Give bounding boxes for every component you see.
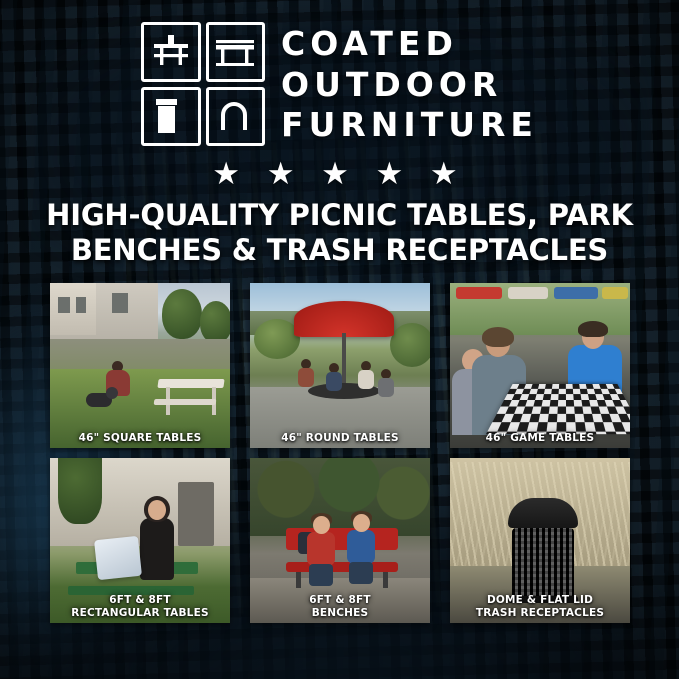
gallery-caption-line-1: DOME & FLAT LID: [452, 594, 628, 606]
photo-round-tables: [250, 283, 430, 448]
gallery-item-game-tables[interactable]: 46" GAME TABLES: [450, 283, 630, 448]
gallery-item-trash-receptacles[interactable]: DOME & FLAT LID TRASH RECEPTACLES: [450, 458, 630, 623]
gallery-caption-line-2: TRASH RECEPTACLES: [452, 607, 628, 619]
gallery-caption-line-2: BENCHES: [252, 607, 428, 619]
gallery-caption-line-1: 6FT & 8FT: [252, 594, 428, 606]
gallery-caption: 6FT & 8FT BENCHES: [250, 591, 430, 623]
headline-line-2: BENCHES & TRASH RECEPTACLES: [0, 233, 679, 268]
arched-bench-icon: [206, 87, 266, 147]
gallery-item-round-tables[interactable]: 46" ROUND TABLES: [250, 283, 430, 448]
gallery-item-square-tables[interactable]: 46" SQUARE TABLES: [50, 283, 230, 448]
picnic-table-icon: [141, 22, 201, 82]
star-rating: ★ ★ ★ ★ ★: [0, 158, 679, 189]
gallery-caption-line-2: RECTANGULAR TABLES: [52, 607, 228, 619]
page-title: HIGH-QUALITY PICNIC TABLES, PARK BENCHES…: [0, 198, 679, 269]
gallery-caption-line-1: 6FT & 8FT: [52, 594, 228, 606]
logo-line-1: COATED: [281, 25, 538, 64]
gallery-caption: 46" ROUND TABLES: [250, 429, 430, 448]
poster-image: COATED OUTDOOR FURNITURE ★ ★ ★ ★ ★ HIGH-…: [0, 0, 679, 679]
gallery-item-rectangular-tables[interactable]: 6FT & 8FT RECTANGULAR TABLES: [50, 458, 230, 623]
trash-receptacle-icon: [141, 87, 201, 147]
logo-line-2: OUTDOOR: [281, 66, 538, 105]
park-bench-icon: [206, 22, 266, 82]
gallery-caption: 46" SQUARE TABLES: [50, 429, 230, 448]
photo-square-tables: [50, 283, 230, 448]
gallery-item-benches[interactable]: 6FT & 8FT BENCHES: [250, 458, 430, 623]
brand-logo: COATED OUTDOOR FURNITURE: [0, 22, 679, 146]
headline-line-1: HIGH-QUALITY PICNIC TABLES, PARK: [0, 198, 679, 233]
gallery-caption: 46" GAME TABLES: [450, 429, 630, 448]
gallery-caption: 6FT & 8FT RECTANGULAR TABLES: [50, 591, 230, 623]
logo-icon-grid: [141, 22, 265, 146]
gallery-caption: DOME & FLAT LID TRASH RECEPTACLES: [450, 591, 630, 623]
logo-line-3: FURNITURE: [281, 106, 538, 145]
logo-wordmark: COATED OUTDOOR FURNITURE: [281, 23, 538, 146]
photo-game-tables: [450, 283, 630, 448]
product-gallery-grid: 46" SQUARE TABLES 46" ROUND TABLES: [50, 283, 630, 623]
